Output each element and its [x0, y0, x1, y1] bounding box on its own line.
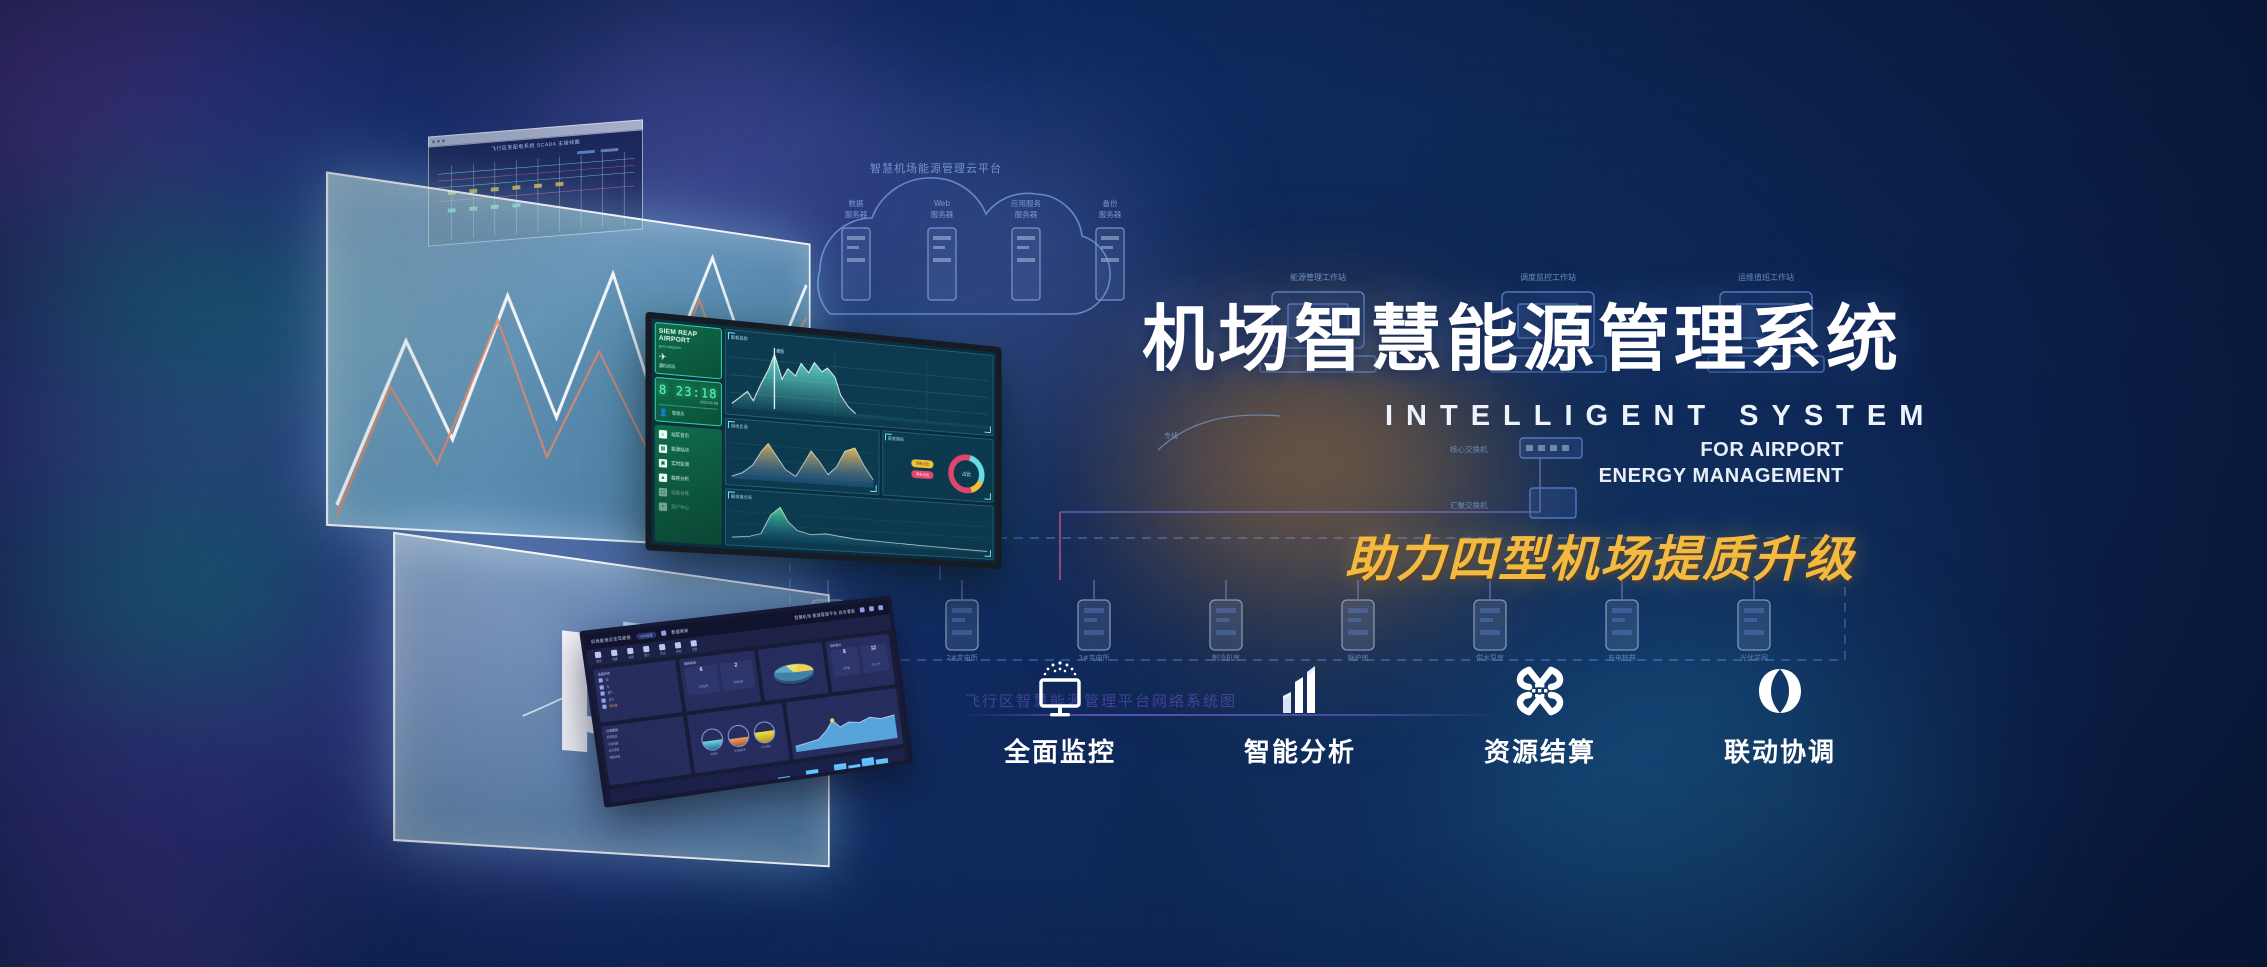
- subtitle-english-lines: FOR AIRPORT ENERGY MANAGEMENT: [1599, 437, 1844, 490]
- page-title: 机场智慧能源管理系统: [1142, 280, 1902, 385]
- feature-label: 资源结算: [1484, 732, 1596, 769]
- subtitle-line-energy-management: ENERGY MANAGEMENT: [1599, 463, 1844, 489]
- interlocking-links-icon: [1749, 660, 1811, 722]
- feature-list: 全面监控 智能分析: [960, 660, 1880, 790]
- feature-monitoring[interactable]: 全面监控: [960, 660, 1160, 790]
- feature-label: 全面监控: [1004, 732, 1116, 769]
- subtitle-english: INTELLIGENT SYSTEM: [1385, 400, 1936, 433]
- bar-chart-icon: [1269, 660, 1331, 722]
- monitor-icon: [1029, 660, 1091, 722]
- feature-settlement[interactable]: 资源结算: [1440, 660, 1640, 790]
- vignette-overlay: [0, 0, 2267, 967]
- feature-label: 智能分析: [1244, 732, 1356, 769]
- butterfly-nodes-icon: [1509, 660, 1571, 722]
- tagline: 助力四型机场提质升级: [1345, 520, 1855, 591]
- hero-banner: 智慧机场能源管理云平台 数据服务器 Web服务器 应用服务服务器 备份服务器: [0, 0, 2267, 967]
- feature-coordination[interactable]: 联动协调: [1680, 660, 1880, 790]
- feature-analysis[interactable]: 智能分析: [1200, 660, 1400, 790]
- feature-label: 联动协调: [1724, 732, 1836, 769]
- subtitle-line-for-airport: FOR AIRPORT: [1599, 437, 1844, 463]
